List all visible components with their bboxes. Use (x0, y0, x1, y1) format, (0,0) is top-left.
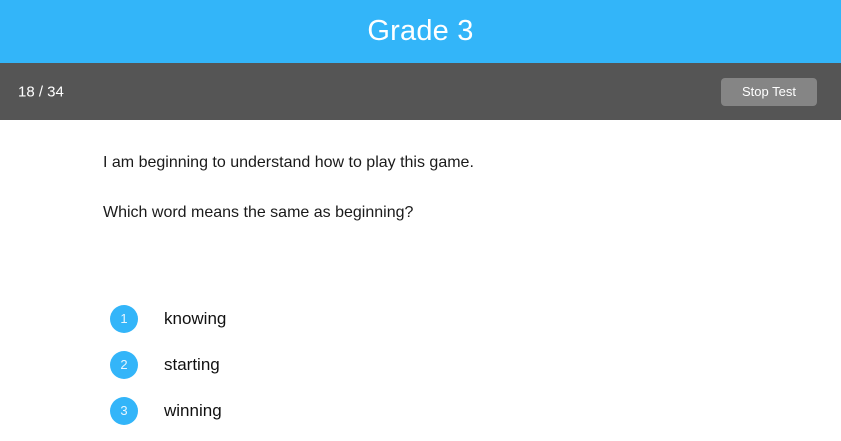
answer-option-1[interactable]: 1 knowing (0, 296, 841, 342)
answer-option-2[interactable]: 2 starting (0, 342, 841, 388)
option-label: winning (164, 401, 222, 421)
option-number-badge: 2 (110, 351, 138, 379)
progress-counter: 18 / 34 (18, 84, 64, 99)
option-label: knowing (164, 309, 226, 329)
stop-test-button[interactable]: Stop Test (721, 78, 817, 106)
answer-option-3[interactable]: 3 winning (0, 388, 841, 434)
answer-options-list: 1 knowing 2 starting 3 winning (0, 296, 841, 434)
option-label: starting (164, 355, 220, 375)
page-title: Grade 3 (367, 17, 473, 46)
test-toolbar: 18 / 34 Stop Test (0, 63, 841, 120)
question-prompt: Which word means the same as beginning? (103, 203, 413, 223)
app-header: Grade 3 (0, 0, 841, 63)
question-sentence: I am beginning to understand how to play… (103, 153, 474, 173)
question-area: I am beginning to understand how to play… (0, 120, 841, 441)
option-number-badge: 1 (110, 305, 138, 333)
option-number-badge: 3 (110, 397, 138, 425)
quiz-app: Grade 3 18 / 34 Stop Test I am beginning… (0, 0, 841, 441)
